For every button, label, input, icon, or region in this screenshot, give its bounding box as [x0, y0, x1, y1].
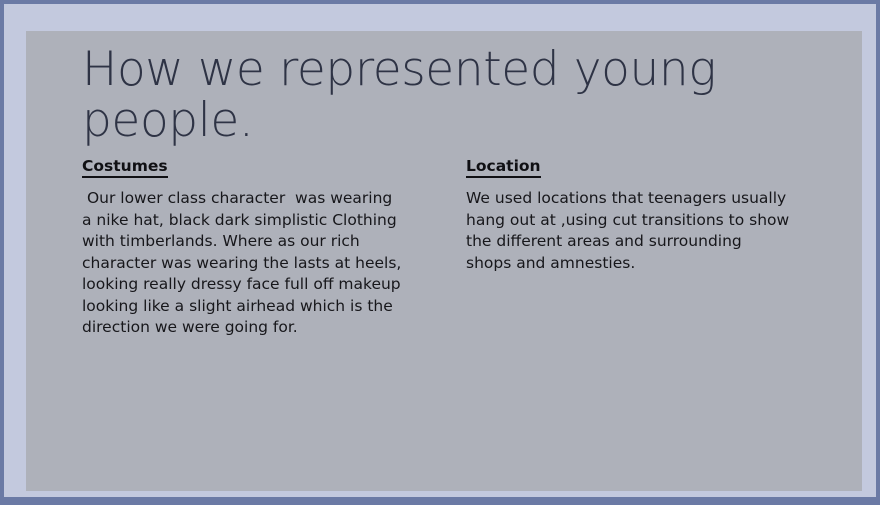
column-body-location: We used locations that teenagers usually… — [466, 188, 811, 274]
slide-canvas: How we represented young people. Costume… — [26, 31, 862, 491]
column-body-costumes: Our lower class character was wearing a … — [82, 188, 427, 339]
slide-outer-frame: How we represented young people. Costume… — [0, 0, 880, 505]
content-column-location: Location We used locations that teenager… — [466, 157, 811, 274]
column-heading-costumes: Costumes — [82, 157, 168, 178]
page-title: How we represented young people. — [82, 44, 782, 146]
slide-mat-border: How we represented young people. Costume… — [4, 4, 876, 497]
content-column-costumes: Costumes Our lower class character was w… — [82, 157, 427, 339]
column-heading-location: Location — [466, 157, 541, 178]
